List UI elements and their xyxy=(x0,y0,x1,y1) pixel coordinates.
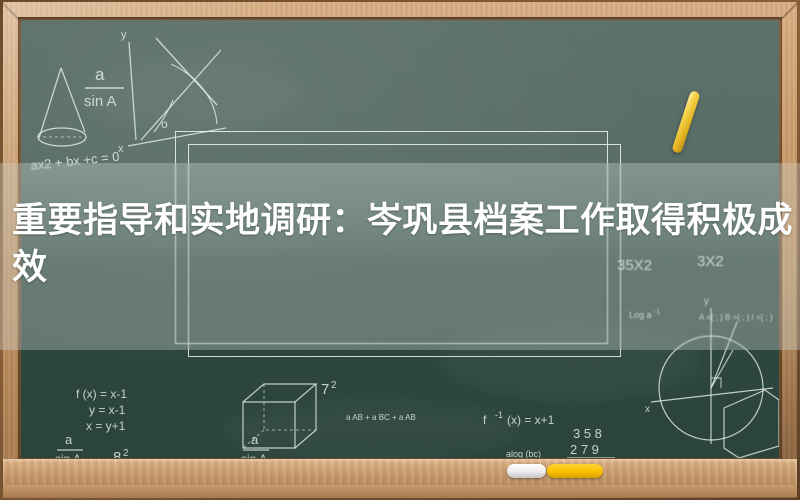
white-chalk-on-ledge xyxy=(507,464,546,478)
yellow-chalk-on-ledge xyxy=(547,464,603,478)
chalk-smear xyxy=(81,60,301,130)
chalk-ledge-lip xyxy=(3,485,797,497)
page-title: 重要指导和实地调研：岑巩县档案工作取得积极成效 xyxy=(12,198,800,292)
chalk-ledge xyxy=(3,459,797,487)
chalkboard-banner: a sin A y x o ax2 + bx +c = 0 xyxy=(0,0,800,500)
chalk-smear xyxy=(221,400,521,458)
